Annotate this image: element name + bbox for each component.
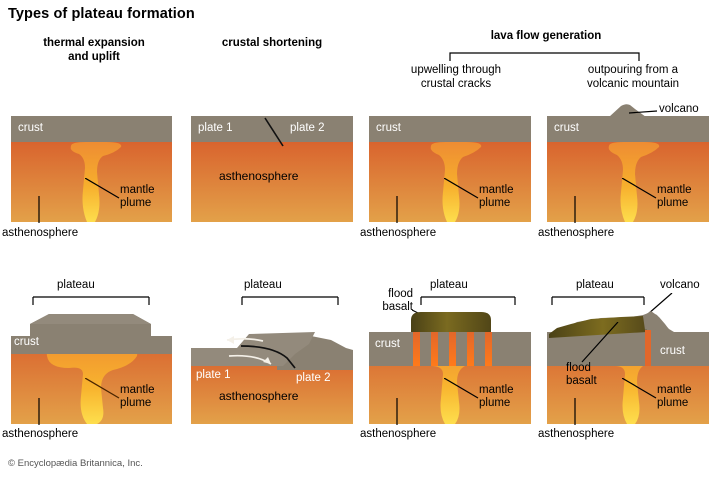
header-line-1: thermal expansion <box>10 37 178 51</box>
plate-1-label-p6: plate 1 <box>196 369 231 382</box>
volcano-leader-p4 <box>629 108 659 118</box>
basalt-word: basalt <box>566 375 597 388</box>
plate-2-label-p2: plate 2 <box>290 122 325 135</box>
column-header-thermal-expansion: thermal expansion and uplift <box>10 37 178 64</box>
asthenosphere-label-p4: asthenosphere <box>538 227 614 240</box>
plate-1-label-p2: plate 1 <box>198 122 233 135</box>
subheader-line-2: crustal cracks <box>368 78 544 92</box>
crust-label-p1: crust <box>18 122 43 135</box>
asthenosphere-label-p6: asthenosphere <box>219 390 298 403</box>
mantle-plume-leader-p4 <box>622 178 658 200</box>
flood-word: flood <box>566 362 597 375</box>
subheader-line-2: volcanic mountain <box>545 78 720 92</box>
plume-word: plume <box>120 197 155 210</box>
column-header-outpouring: outpouring from a volcanic mountain <box>545 64 720 91</box>
column-header-upwelling: upwelling through crustal cracks <box>368 64 544 91</box>
asthenosphere-label-p2: asthenosphere <box>219 170 298 183</box>
mantle-word: mantle <box>657 384 692 397</box>
crust-label-p8: crust <box>660 345 685 358</box>
asthenosphere-leader-p8 <box>572 398 578 426</box>
plateau-bracket-p8 <box>549 296 647 308</box>
copyright-credit: © Encyclopædia Britannica, Inc. <box>8 458 143 469</box>
mantle-plume-label-p8: mantle plume <box>657 384 692 410</box>
thrust-arrow-upper-head <box>227 336 234 344</box>
plateau-bracket-p7 <box>418 296 518 308</box>
plateau-label-p8: plateau <box>576 279 614 292</box>
asthenosphere-leader-p3 <box>394 196 400 224</box>
dike <box>431 332 438 366</box>
plume-word: plume <box>479 197 514 210</box>
asthenosphere-label-p3: asthenosphere <box>360 227 436 240</box>
asthenosphere-label-p8: asthenosphere <box>538 428 614 441</box>
plume-word: plume <box>120 397 155 410</box>
mantle-plume-label-p1: mantle plume <box>120 184 155 210</box>
mantle-plume-leader-p7 <box>444 378 480 400</box>
volcano-label-p4: volcano <box>659 103 699 116</box>
group-header-lava-flow-generation: lava flow generation <box>456 30 636 44</box>
plate-2-label-p6: plate 2 <box>296 372 331 385</box>
asthenosphere-leader-p5 <box>36 398 42 426</box>
plateau-label-p6: plateau <box>244 279 282 292</box>
subheader-line-1: outpouring from a <box>545 64 720 78</box>
mantle-word: mantle <box>120 184 155 197</box>
dike <box>413 332 420 366</box>
panel-thrust-plateau-diagram <box>191 310 353 424</box>
mantle-plume-leader-p1 <box>85 178 121 200</box>
crust-label-p3: crust <box>376 122 401 135</box>
plume-word: plume <box>479 397 514 410</box>
plateau-bracket-p5 <box>30 296 152 308</box>
mantle-plume-leader-p8 <box>622 378 658 400</box>
asthenosphere-label-p7: asthenosphere <box>360 428 436 441</box>
column-header-crustal-shortening: crustal shortening <box>188 37 356 51</box>
mantle-plume-label-p7: mantle plume <box>479 384 514 410</box>
lava-flow-group-bracket <box>445 48 645 62</box>
flood-basalt-leader-p8 <box>580 322 620 364</box>
crust-top-highlight <box>30 314 151 324</box>
plateau-bracket-p6 <box>239 296 341 308</box>
flood-basalt-label-p8: flood basalt <box>566 362 597 388</box>
subheader-line-1: upwelling through <box>368 64 544 78</box>
crust-label-p7: crust <box>375 338 400 351</box>
volcanic-conduit <box>645 330 651 366</box>
plateau-label-p7: plateau <box>430 279 468 292</box>
plume-word: plume <box>657 397 692 410</box>
flood-word: flood <box>363 288 413 301</box>
mantle-word: mantle <box>657 184 692 197</box>
mantle-word: mantle <box>120 384 155 397</box>
mantle-plume-leader-p3 <box>444 178 480 200</box>
plume-word: plume <box>657 197 692 210</box>
dike <box>467 332 474 366</box>
dike <box>449 332 456 366</box>
mantle-plume-leader-p5 <box>85 378 121 400</box>
asthenosphere-leader-p1 <box>36 196 42 224</box>
volcano-label-p8: volcano <box>660 279 700 292</box>
asthenosphere-label-p5: asthenosphere <box>2 428 78 441</box>
mantle-word: mantle <box>479 384 514 397</box>
asthenosphere-leader-p7 <box>394 398 400 426</box>
crust-label-p4: crust <box>554 122 579 135</box>
mantle-plume-label-p4: mantle plume <box>657 184 692 210</box>
crust-label-p5: crust <box>14 336 39 349</box>
mantle-word: mantle <box>479 184 514 197</box>
header-line-2: and uplift <box>10 51 178 65</box>
flood-basalt-cap <box>411 312 491 332</box>
mantle-plume-label-p3: mantle plume <box>479 184 514 210</box>
mantle-plume-label-p5: mantle plume <box>120 384 155 410</box>
page-title: Types of plateau formation <box>8 6 195 22</box>
asthenosphere-leader-p4 <box>572 196 578 224</box>
dike <box>485 332 492 366</box>
asthenosphere-label-p1: asthenosphere <box>2 227 78 240</box>
plateau-label-p5: plateau <box>57 279 95 292</box>
